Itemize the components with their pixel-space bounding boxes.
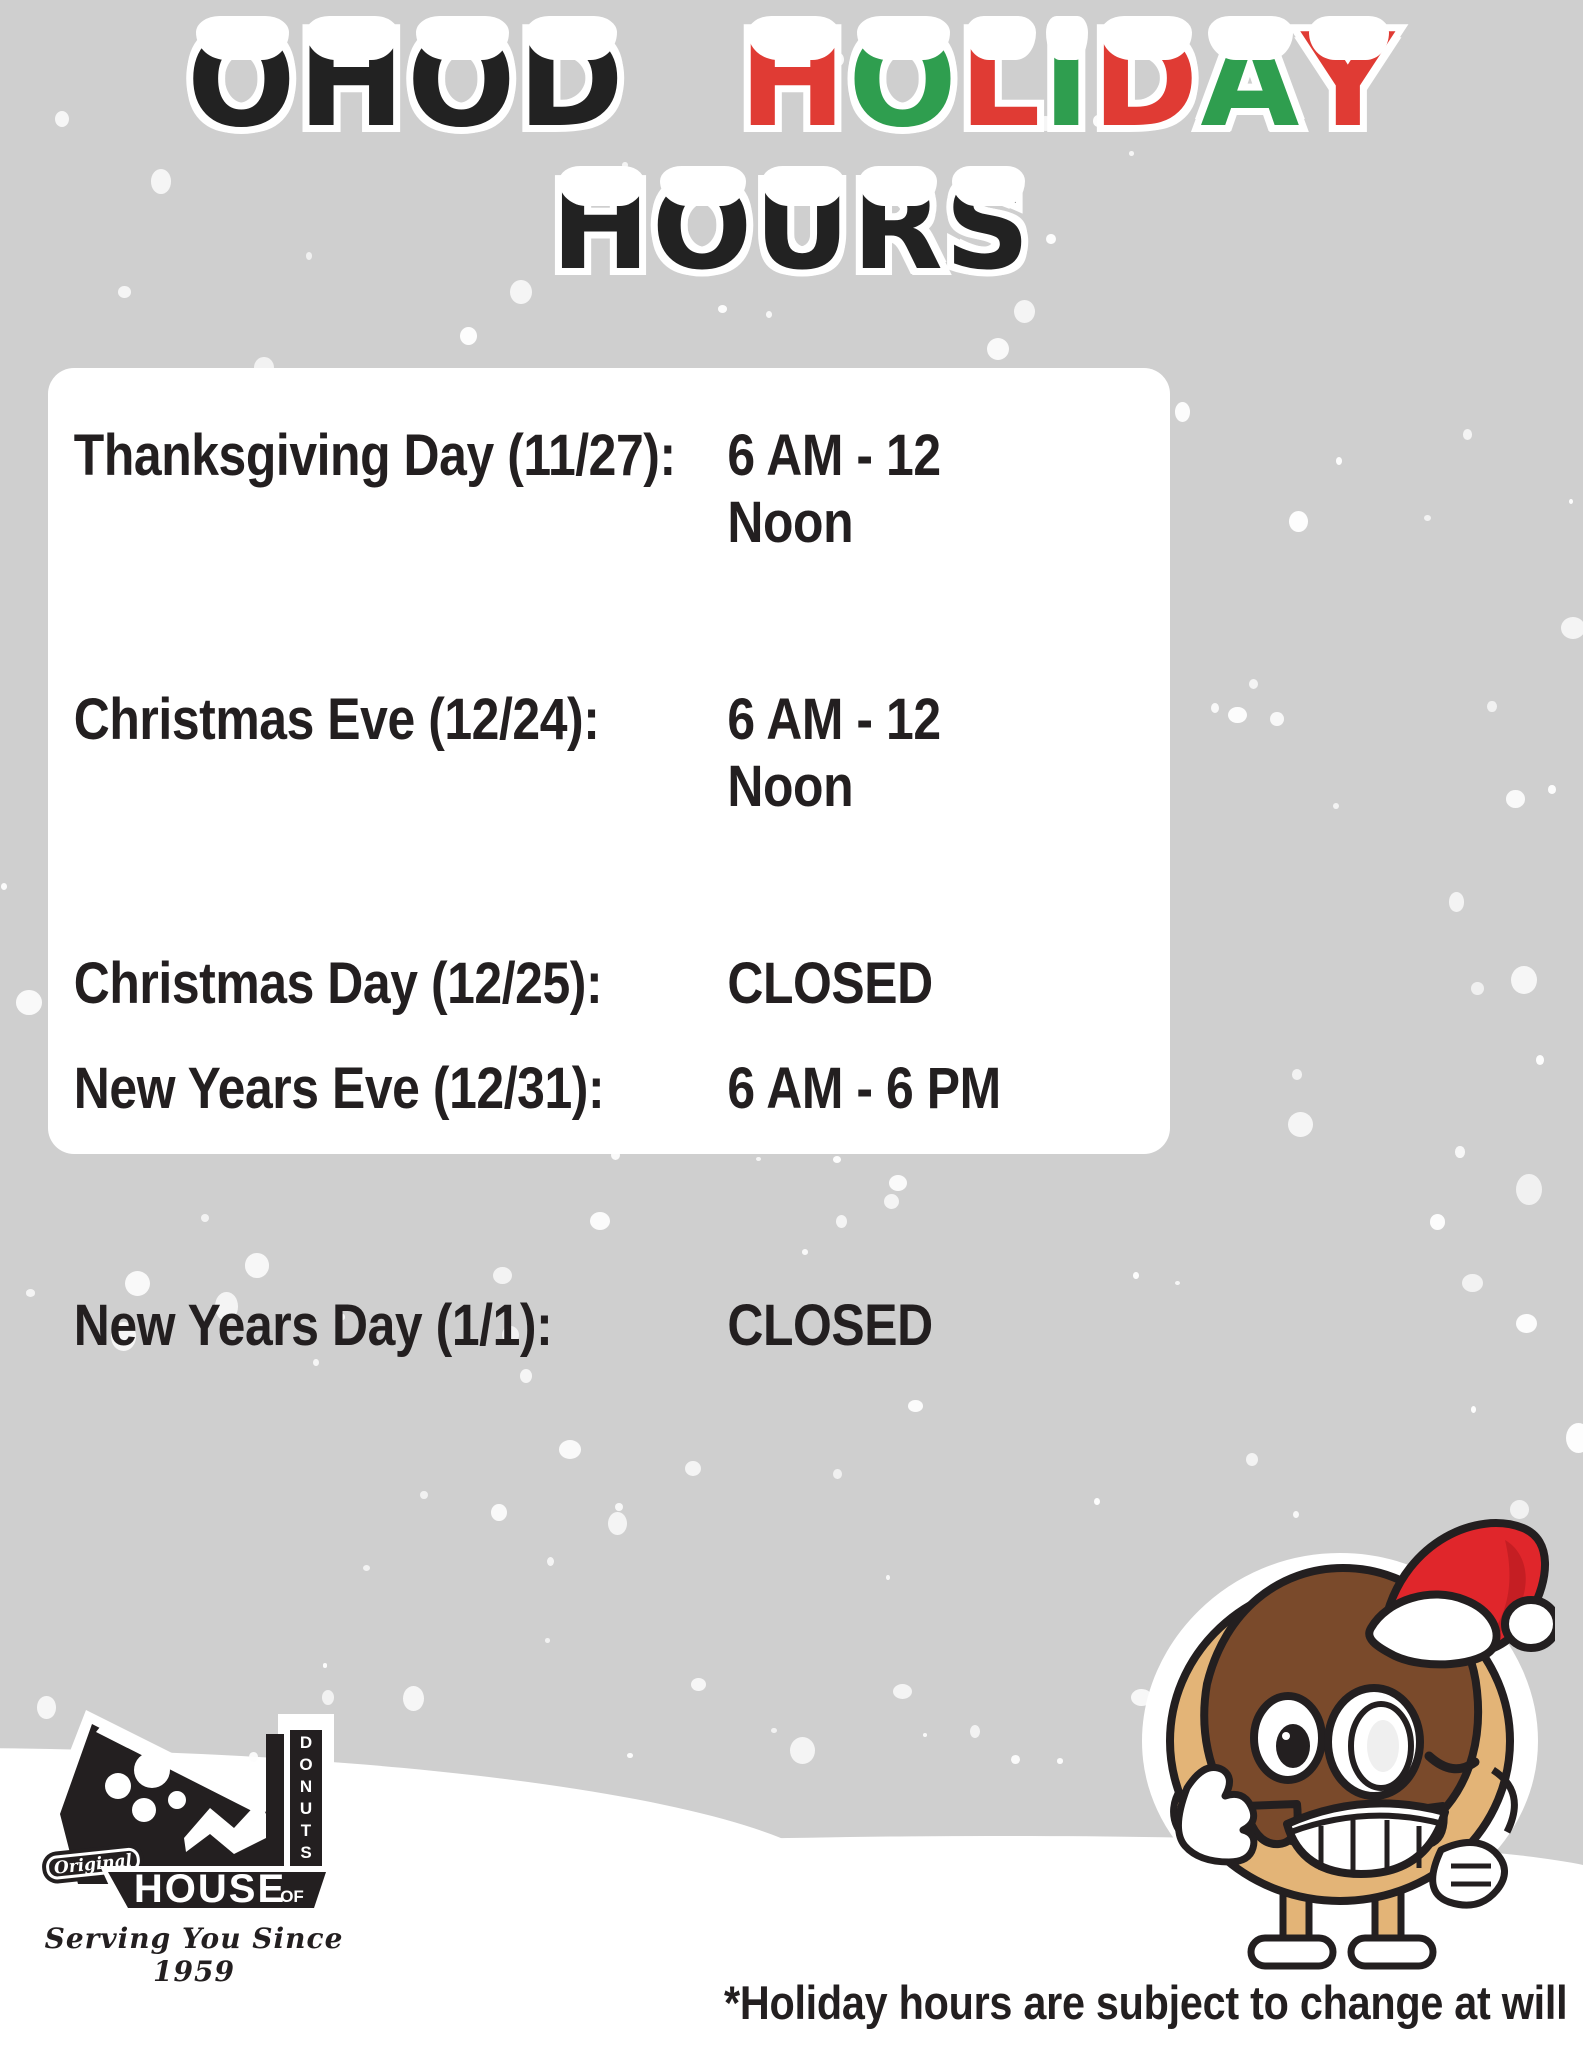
letter-snow-cap xyxy=(306,16,398,60)
poster-title: OHOD HOLIDAY HOURS xyxy=(0,18,1583,287)
letter-snow-cap xyxy=(857,16,950,60)
snowflake xyxy=(1471,1406,1476,1413)
title-letter: U xyxy=(754,168,852,286)
snowflake xyxy=(1292,1069,1302,1080)
snowflake xyxy=(1569,499,1573,504)
snowflake xyxy=(1246,1453,1258,1466)
snowflake xyxy=(1333,803,1339,809)
snowflake xyxy=(545,1638,550,1643)
snowflake xyxy=(970,1725,980,1738)
title-letter: H xyxy=(551,168,652,286)
snowflake xyxy=(520,1369,532,1383)
svg-text:S: S xyxy=(300,1843,311,1862)
mascot-fist-hand xyxy=(1433,1842,1505,1905)
svg-text:O: O xyxy=(299,1755,312,1774)
snowflake xyxy=(1516,1174,1542,1205)
snowflake xyxy=(1506,790,1525,808)
hours-row-label: Thanksgiving Day (11/27): xyxy=(74,422,728,489)
logo-of-word: OF xyxy=(280,1887,304,1906)
snowflake xyxy=(313,1359,319,1366)
snowflake xyxy=(559,1440,581,1459)
house-of-donuts-logo: D O N U T S Original HOUSE OF Serving Yo… xyxy=(34,1688,354,1988)
hours-row-value: CLOSED xyxy=(727,1292,1013,1359)
snowflake xyxy=(923,1733,927,1737)
snowflake xyxy=(1430,1214,1445,1230)
letter-snow-cap xyxy=(1046,16,1088,60)
snowflake xyxy=(1487,701,1497,712)
snowflake xyxy=(1249,679,1258,689)
hours-card: Thanksgiving Day (11/27): 6 AM - 12 Noon… xyxy=(48,368,1170,1154)
logo-vertical-letter: D xyxy=(300,1733,312,1752)
title-letter: D xyxy=(518,18,626,146)
hours-row: Thanksgiving Day (11/27): 6 AM - 12 Noon xyxy=(48,422,1013,556)
snowflake xyxy=(1566,1423,1583,1453)
hours-row-value: 6 AM - 12 Noon xyxy=(727,422,1013,556)
hours-row-label: Christmas Day (12/25): xyxy=(74,950,728,1017)
svg-text:T: T xyxy=(301,1821,312,1840)
snowflake xyxy=(771,1728,777,1733)
letter-snow-cap xyxy=(416,16,509,60)
snowflake xyxy=(1561,617,1583,639)
title-letter: O xyxy=(407,18,518,146)
holiday-hours-poster: OHOD HOLIDAY HOURS Thanksgiving Day (11/… xyxy=(0,0,1583,2048)
title-word-hours: HOURS xyxy=(551,162,1032,294)
snowflake xyxy=(1057,1758,1063,1764)
disclaimer-note: *Holiday hours are subject to change at … xyxy=(724,1975,1567,2030)
snowflake xyxy=(691,1678,706,1691)
snowflake xyxy=(403,1686,424,1711)
snowflake xyxy=(1270,712,1284,726)
snowflake xyxy=(1228,707,1247,723)
snowflake xyxy=(1288,1112,1313,1137)
mascot-left-pupil xyxy=(1276,1724,1310,1768)
snowflake xyxy=(987,338,1009,360)
letter-snow-cap xyxy=(952,166,1025,206)
snowflake xyxy=(1449,892,1464,912)
hours-row: New Years Day (1/1): CLOSED xyxy=(48,1292,1013,1359)
snowflake xyxy=(766,311,772,318)
snowflake xyxy=(1471,982,1484,995)
snowflake xyxy=(1536,1055,1544,1065)
hours-row-label: New Years Eve (12/31): xyxy=(74,1055,728,1122)
title-line-2: HOURS xyxy=(0,168,1583,287)
title-letter: O xyxy=(848,18,959,146)
letter-snow-cap xyxy=(1309,16,1389,60)
snowflake xyxy=(1462,1274,1483,1292)
snowflake xyxy=(893,1684,912,1699)
title-letter: A xyxy=(1200,18,1301,146)
hours-row: New Years Eve (12/31): 6 AM - 6 PM xyxy=(48,1055,1013,1122)
snowflake xyxy=(323,1663,327,1668)
snowflake xyxy=(1511,966,1537,994)
snowflake xyxy=(1455,1146,1465,1158)
snowflake xyxy=(1424,515,1431,521)
hours-row-value: CLOSED xyxy=(727,950,1013,1017)
snowflake xyxy=(460,327,477,345)
snowflake xyxy=(1175,1281,1180,1285)
snowflake xyxy=(886,1575,890,1580)
mascot-santa-hat xyxy=(1369,1523,1555,1664)
snowflake xyxy=(1516,1314,1537,1333)
snowflake xyxy=(718,305,727,313)
hours-row-label: Christmas Eve (12/24): xyxy=(74,686,728,753)
snowflake xyxy=(1211,703,1219,713)
snowflake xyxy=(833,1469,842,1479)
svg-text:N: N xyxy=(300,1777,312,1796)
donut-mascot xyxy=(1125,1506,1555,1976)
snowflake xyxy=(1548,785,1556,794)
letter-snow-cap xyxy=(748,16,840,60)
letter-snow-cap xyxy=(559,166,644,206)
hours-list: Thanksgiving Day (11/27): 6 AM - 12 Noon… xyxy=(48,368,1170,1359)
snowflake xyxy=(547,1557,554,1566)
title-letter: L xyxy=(959,18,1043,146)
snowflake xyxy=(615,1503,623,1511)
title-letter: H xyxy=(739,18,848,146)
snowflake xyxy=(790,1737,815,1764)
donut-mascot-illustration xyxy=(1125,1506,1555,1976)
hours-row-value: 6 AM - 6 PM xyxy=(727,1055,1013,1122)
letter-snow-cap xyxy=(660,166,746,206)
letter-snow-cap xyxy=(966,16,1036,60)
snowflake xyxy=(685,1461,701,1476)
snowflake xyxy=(363,1565,370,1571)
snowflake xyxy=(1336,457,1342,465)
title-word-ohod: OHOD xyxy=(187,10,626,153)
snowflake xyxy=(1463,429,1472,440)
svg-text:U: U xyxy=(300,1799,312,1818)
letter-snow-cap xyxy=(762,166,844,206)
snowflake xyxy=(491,1504,507,1521)
snowflake xyxy=(627,1753,633,1758)
title-letter: O xyxy=(187,18,298,146)
snowflake xyxy=(420,1491,428,1499)
title-letter: Y xyxy=(1301,18,1396,146)
snowflake xyxy=(118,286,131,298)
title-letter: O xyxy=(652,168,754,286)
snowflake xyxy=(1094,1498,1100,1505)
snowflake xyxy=(1,883,7,890)
letter-snow-cap xyxy=(1101,16,1192,60)
logo-mark: D O N U T S Original HOUSE OF xyxy=(34,1688,354,1918)
hours-row: Christmas Eve (12/24): 6 AM - 12 Noon xyxy=(48,686,1013,820)
logo-tagline: Serving You Since 1959 xyxy=(34,1922,354,1988)
letter-snow-cap xyxy=(1208,16,1293,60)
mascot-grin xyxy=(1287,1803,1445,1874)
hours-row-label: New Years Day (1/1): xyxy=(74,1292,728,1359)
snowflake xyxy=(1011,1755,1020,1764)
snowflake xyxy=(908,1400,923,1412)
snowflake xyxy=(1014,300,1035,323)
snowflake xyxy=(1175,402,1190,422)
title-letter: I xyxy=(1043,18,1093,146)
title-letter: H xyxy=(298,18,407,146)
title-letter: S xyxy=(945,168,1032,286)
title-letter: D xyxy=(1092,18,1200,146)
title-word-holiday: HOLIDAY xyxy=(739,10,1396,153)
snowflake xyxy=(1289,511,1308,532)
letter-snow-cap xyxy=(526,16,617,60)
hours-row: Christmas Day (12/25): CLOSED xyxy=(48,950,1013,1017)
snowflake xyxy=(16,990,42,1015)
letter-snow-cap xyxy=(196,16,289,60)
snowflake xyxy=(26,1289,35,1297)
snowflake xyxy=(608,1512,627,1535)
logo-main-word: HOUSE xyxy=(134,1867,286,1911)
letter-snow-cap xyxy=(859,166,937,206)
hours-row-value: 6 AM - 12 Noon xyxy=(727,686,1013,820)
title-letter: R xyxy=(852,168,945,286)
title-line-1: OHOD HOLIDAY xyxy=(0,18,1583,146)
